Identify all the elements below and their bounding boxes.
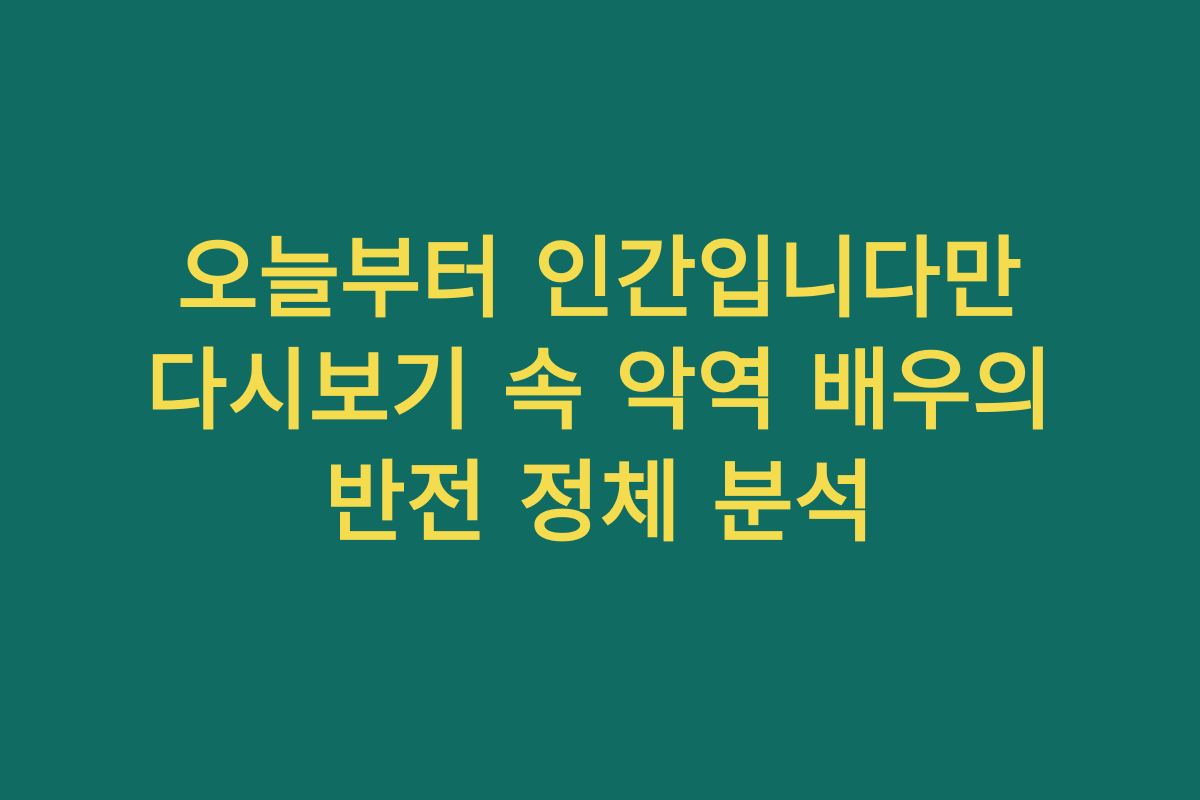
headline-line-2: 다시보기 속 악역 배우의 [24,335,1176,447]
title-card: 오늘부터 인간입니다만 다시보기 속 악역 배우의 반전 정체 분석 [0,0,1200,800]
headline-line-3: 반전 정체 분석 [24,447,1176,559]
headline-text-block: 오늘부터 인간입니다만 다시보기 속 악역 배우의 반전 정체 분석 [0,223,1200,560]
headline-line-1: 오늘부터 인간입니다만 [24,223,1176,335]
